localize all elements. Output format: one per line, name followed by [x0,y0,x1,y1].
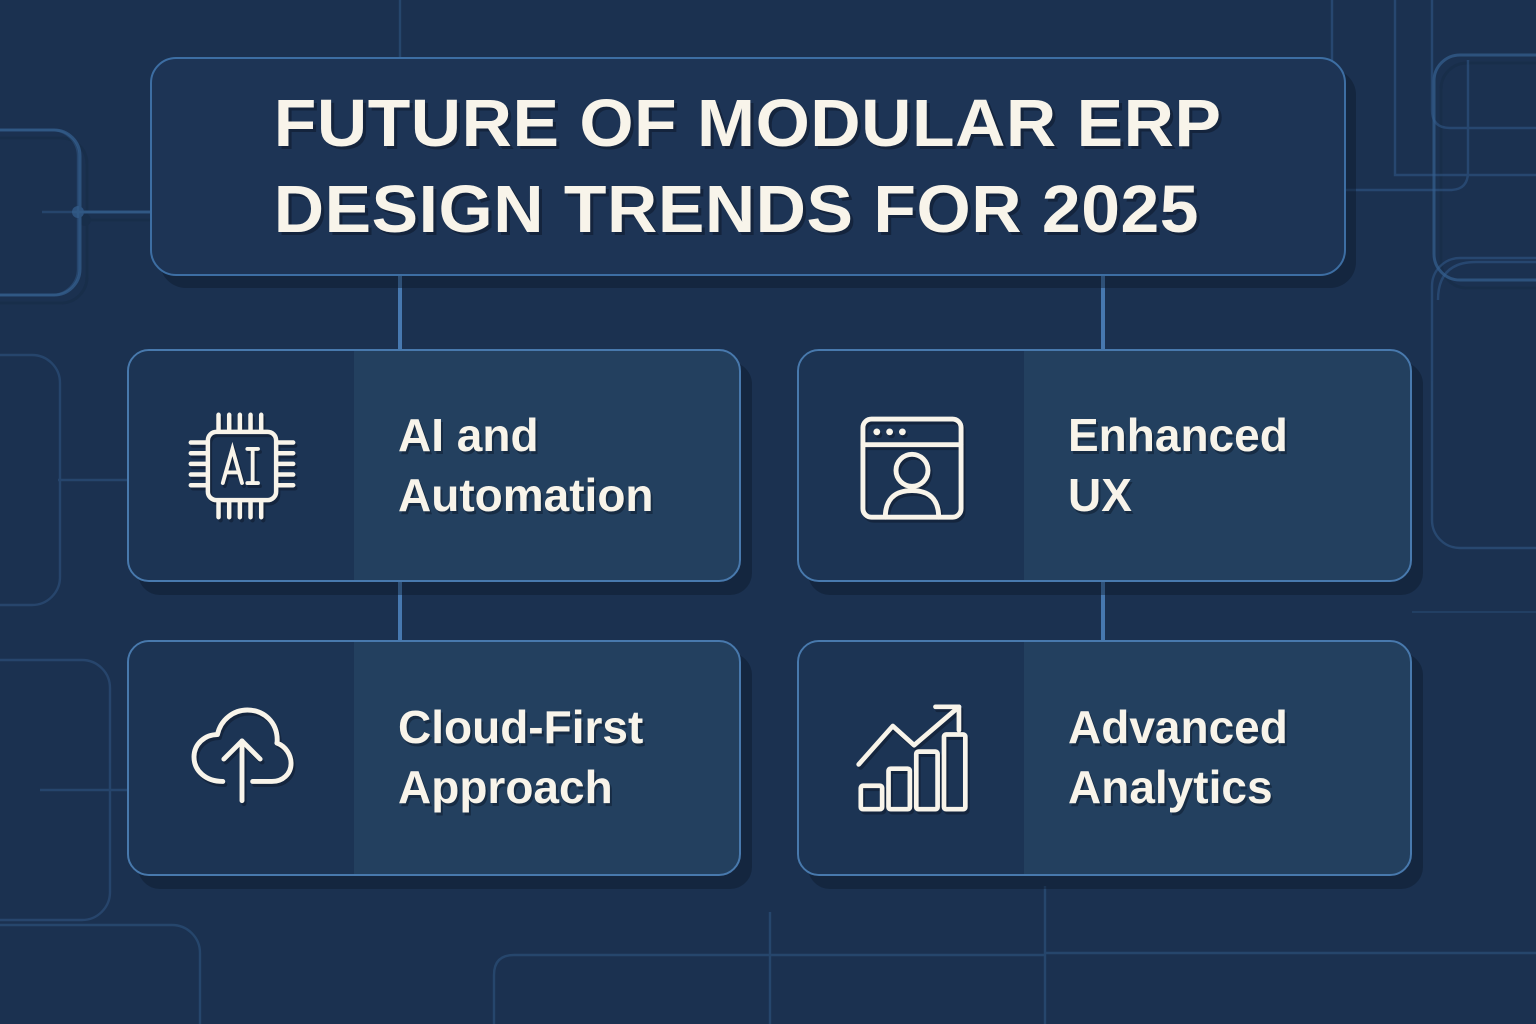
card-enhanced-ux[interactable]: Enhanced UX [797,349,1412,582]
card-advanced-analytics[interactable]: Advanced Analytics [797,640,1412,876]
card-label: Advanced Analytics [1024,642,1410,874]
card-label: Enhanced UX [1024,351,1410,580]
bar-chart-growth-icon [848,694,976,822]
title-banner: Future of Modular ERP Design Trends for … [150,57,1346,276]
ai-chip-icon [178,402,306,530]
icon-panel [129,351,354,580]
browser-user-icon [848,402,976,530]
icon-panel [799,642,1024,874]
icon-panel [799,351,1024,580]
card-ai-and-automation[interactable]: AI and Automation [127,349,741,582]
card-cloud-first-approach[interactable]: Cloud-First Approach [127,640,741,876]
card-label: AI and Automation [354,351,739,580]
cloud-upload-icon [178,694,306,822]
infographic-canvas: Future of Modular ERP Design Trends for … [0,0,1536,1024]
page-title: Future of Modular ERP Design Trends for … [260,81,1237,253]
card-label: Cloud-First Approach [354,642,739,874]
icon-panel [129,642,354,874]
